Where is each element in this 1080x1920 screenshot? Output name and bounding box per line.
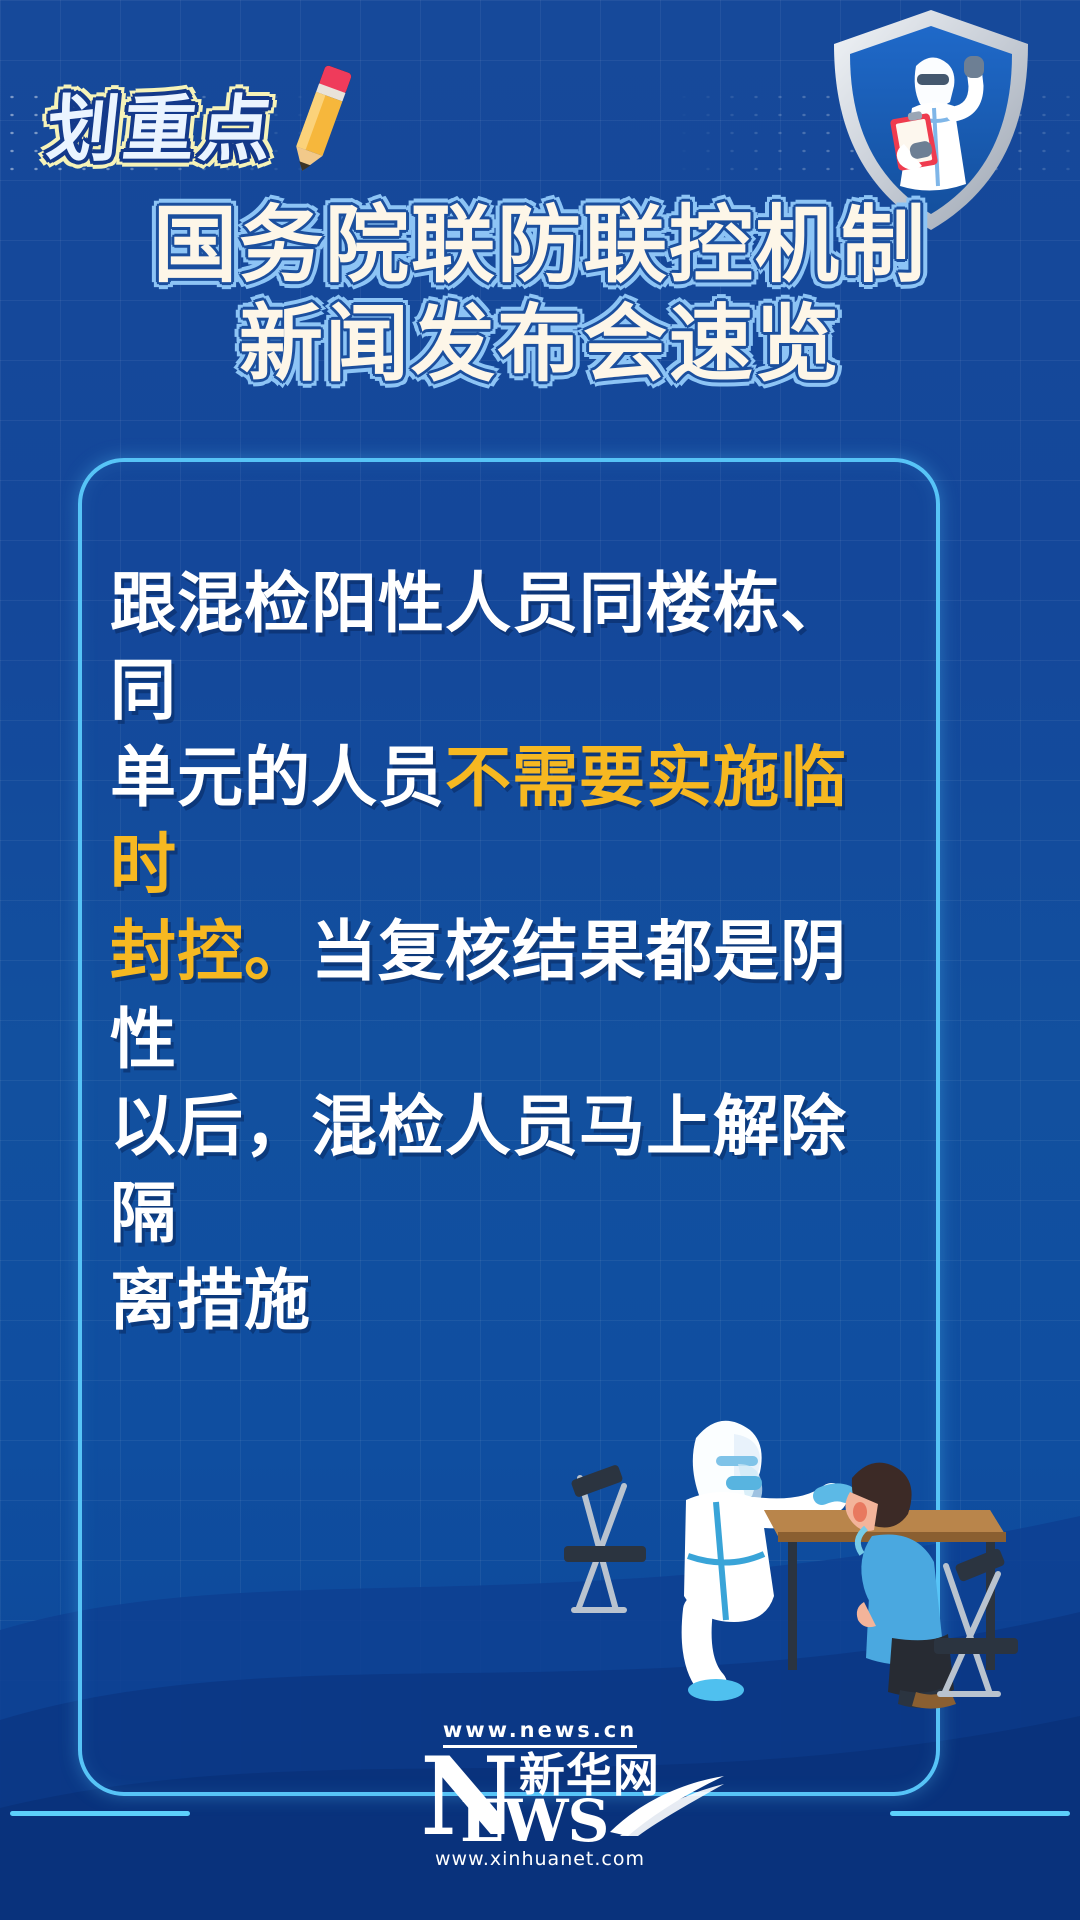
body-line-5: 离措施 xyxy=(110,1262,311,1339)
body-line: 离措施 xyxy=(110,1257,900,1344)
body-text: 跟混检阳性人员同楼栋、同 单元的人员不需要实施临时 封控。当复核结果都是阴性 以… xyxy=(110,560,900,1344)
body-line-1: 跟混检阳性人员同楼栋、同 xyxy=(110,565,847,729)
body-line-3-highlight: 封控。 xyxy=(110,913,311,990)
title-line-2: 新闻发布会速览 xyxy=(0,295,1080,394)
page-title: 国务院联防联控机制 新闻发布会速览 xyxy=(0,196,1080,394)
body-line-4: 以后，混检人员马上解除隔 xyxy=(110,1088,847,1252)
poster-root: 划重点 xyxy=(0,0,1080,1920)
kicker: 划重点 xyxy=(48,62,356,182)
swoosh-icon xyxy=(606,1774,726,1836)
body-line-2-plain: 单元的人员 xyxy=(110,739,445,816)
logo-mark: N 新华网 EWS xyxy=(420,1752,660,1842)
body-line: 单元的人员不需要实施临时 xyxy=(110,734,900,908)
logo-word-ews: EWS xyxy=(460,1798,608,1844)
kicker-label: 划重点 xyxy=(42,70,281,175)
body-line: 跟混检阳性人员同楼栋、同 xyxy=(110,560,900,734)
nucleic-acid-test-scene-icon xyxy=(520,1360,1080,1720)
body-line: 封控。当复核结果都是阴性 xyxy=(110,908,900,1082)
xinhua-logo: www.news.cn N 新华网 EWS www.xinhuanet.com xyxy=(0,1718,1080,1870)
body-line: 以后，混检人员马上解除隔 xyxy=(110,1083,900,1257)
title-line-1: 国务院联防联控机制 xyxy=(0,196,1080,295)
pencil-icon xyxy=(284,62,356,182)
